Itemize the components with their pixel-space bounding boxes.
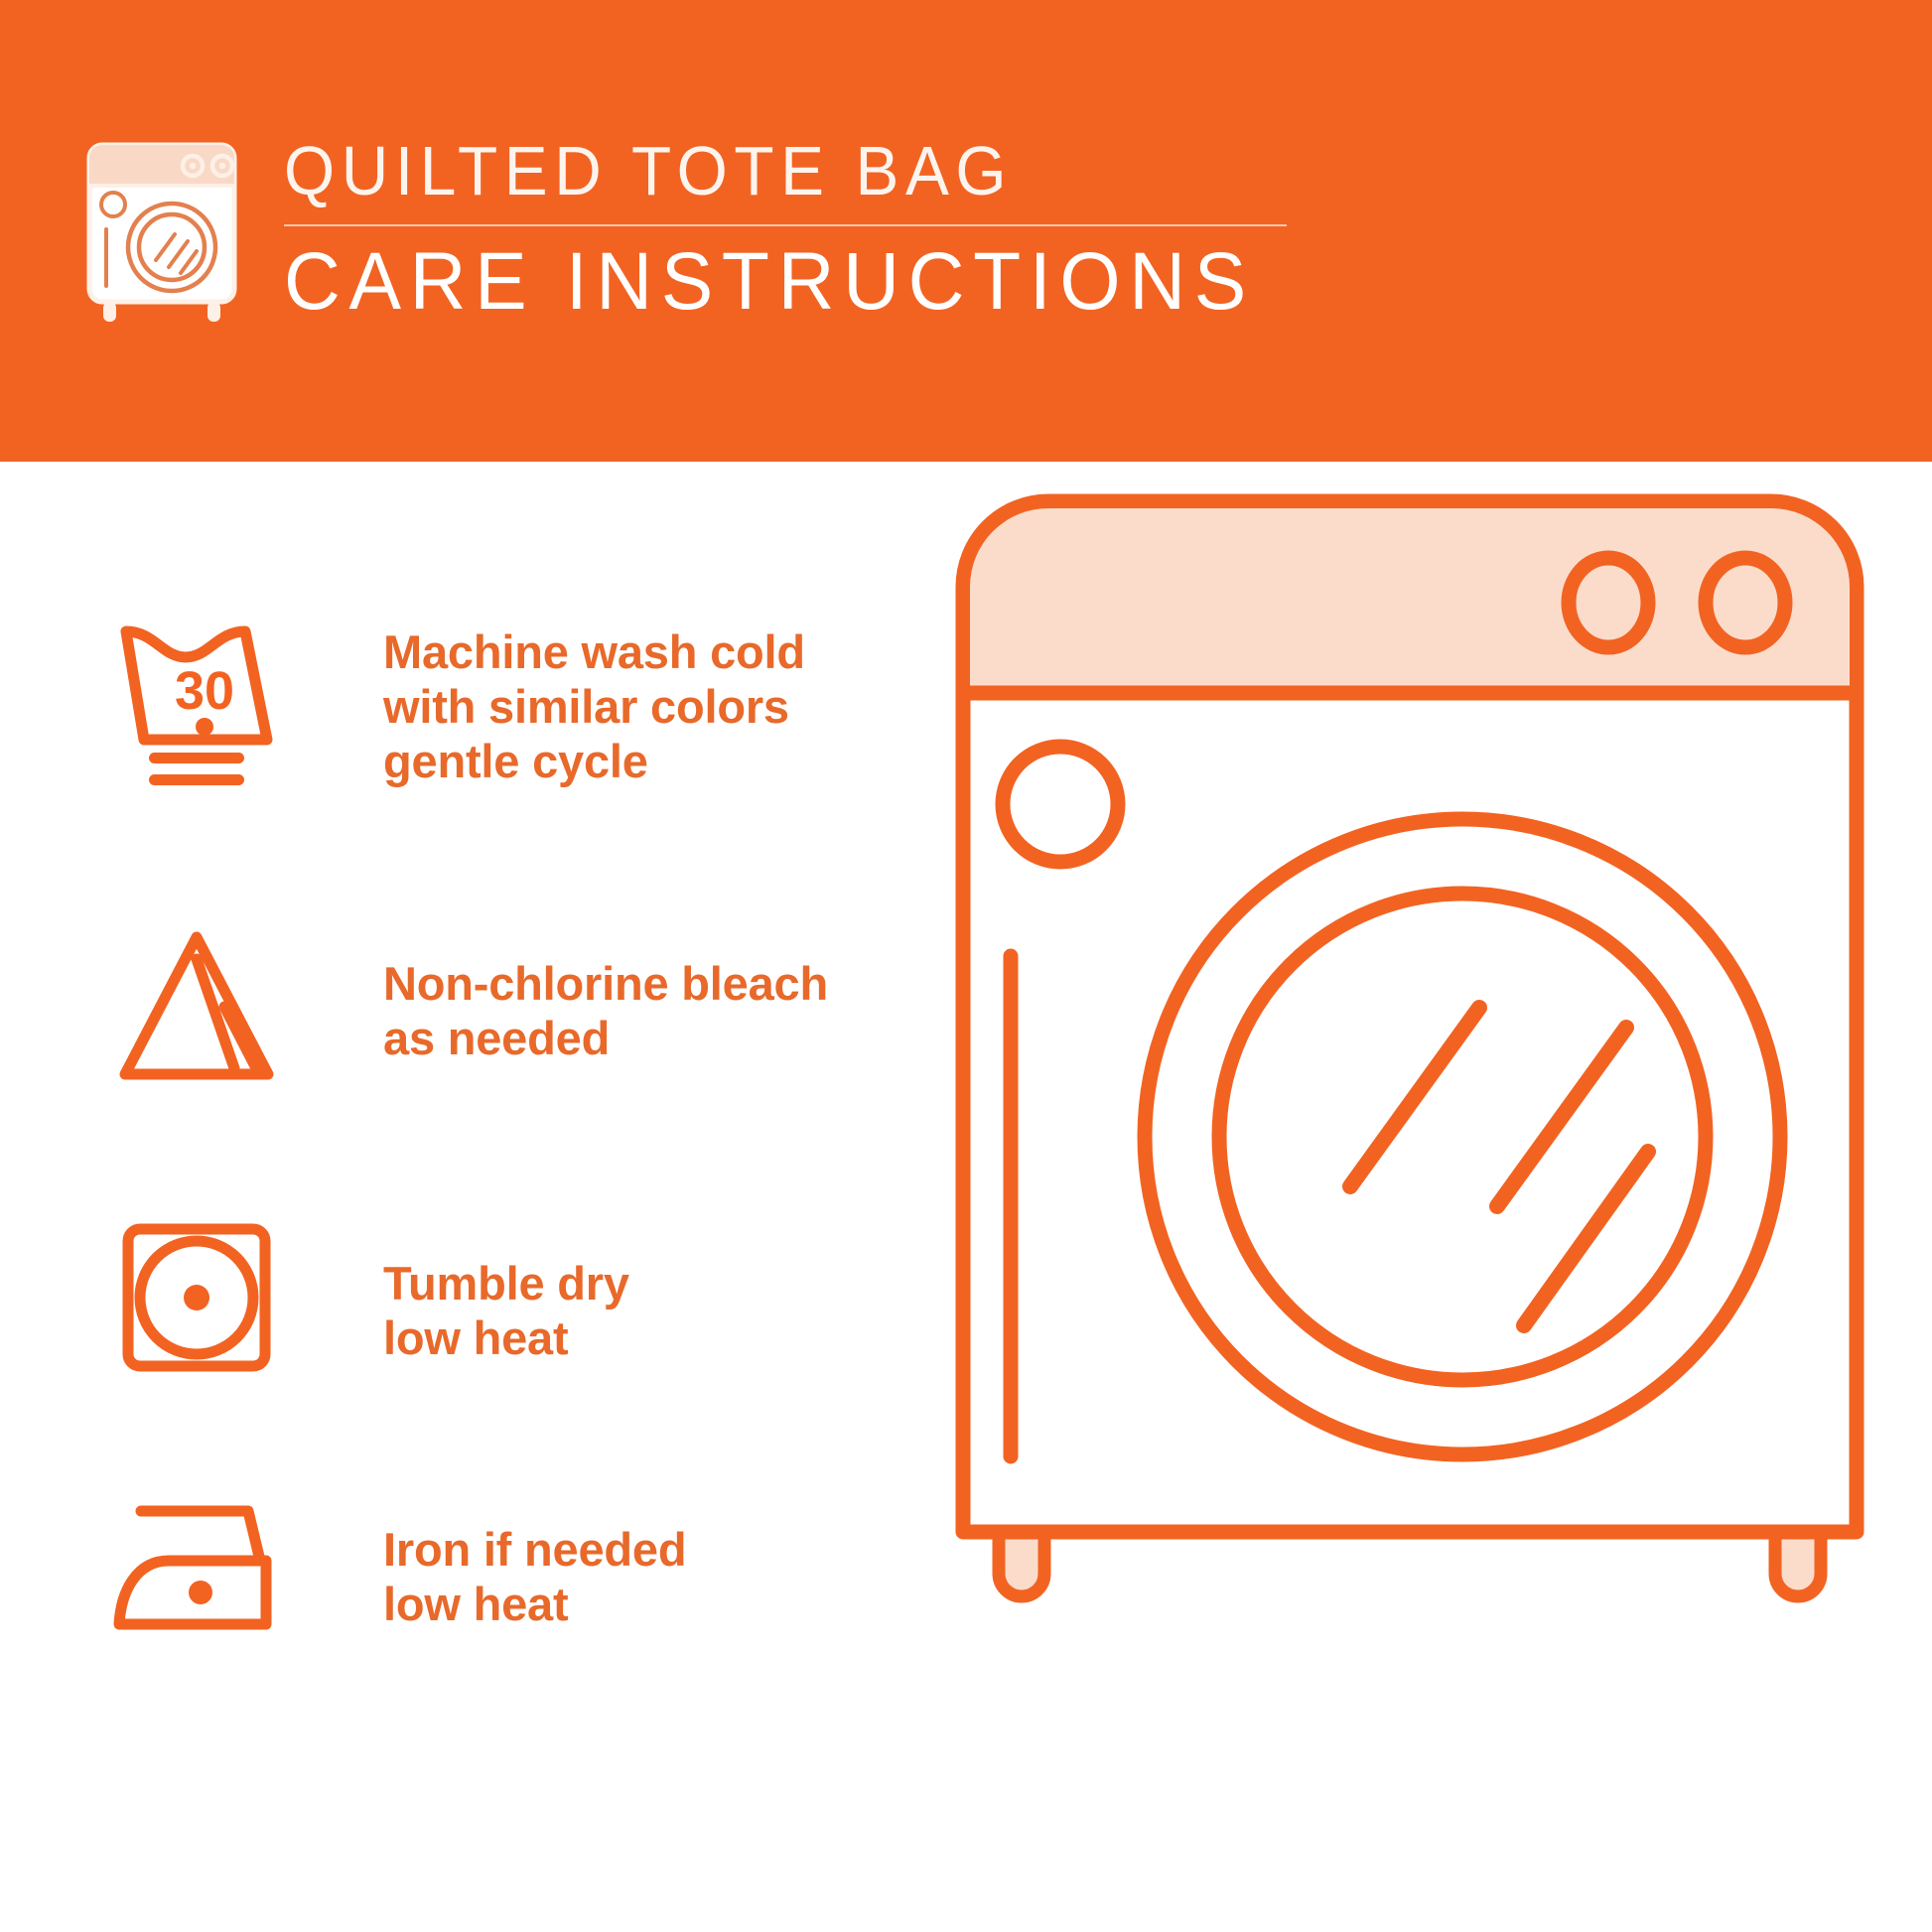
page-title: QUILTED TOTE BAG: [284, 131, 1234, 210]
care-item-label: Machine wash cold with similar colors ge…: [306, 601, 805, 788]
care-line: gentle cycle: [383, 734, 805, 788]
wash-basin-30-gentle-icon: 30: [87, 601, 306, 799]
page-content: 30 Machine wash cold with similar colors…: [0, 462, 1932, 1932]
knob-left: [1569, 558, 1648, 647]
care-line: low heat: [383, 1311, 629, 1365]
care-item-machine-wash: 30 Machine wash cold with similar colors…: [87, 601, 805, 799]
header-content: QUILTED TOTE BAG CARE INSTRUCTIONS: [77, 127, 1296, 328]
tumble-dry-low-heat-icon: [87, 1198, 306, 1397]
title-divider: [284, 224, 1287, 226]
page-subtitle: CARE INSTRUCTIONS: [284, 236, 1255, 328]
care-item-label: Iron if needed low heat: [306, 1470, 686, 1631]
page-header: QUILTED TOTE BAG CARE INSTRUCTIONS: [0, 0, 1932, 462]
iron-low-heat-icon: [87, 1470, 306, 1669]
care-item-bleach: Non-chlorine bleach as needed: [87, 910, 828, 1109]
care-line: Machine wash cold: [383, 624, 805, 679]
care-item-label: Non-chlorine bleach as needed: [306, 910, 828, 1065]
care-line: as needed: [383, 1011, 828, 1065]
non-chlorine-bleach-triangle-icon: [87, 910, 306, 1109]
svg-text:30: 30: [175, 661, 234, 721]
knob-right: [1706, 558, 1785, 647]
care-item-label: Tumble dry low heat: [306, 1198, 629, 1365]
care-line: Non-chlorine bleach: [383, 956, 828, 1011]
care-item-iron: Iron if needed low heat: [87, 1470, 686, 1669]
care-line: Iron if needed: [383, 1522, 686, 1577]
header-title-block: QUILTED TOTE BAG CARE INSTRUCTIONS: [284, 127, 1296, 328]
care-line: with similar colors: [383, 679, 805, 734]
washing-machine-icon: [77, 135, 246, 324]
care-item-tumble-dry: Tumble dry low heat: [87, 1198, 629, 1397]
front-load-washing-machine-illustration: [953, 491, 1866, 1633]
care-line: Tumble dry: [383, 1256, 629, 1311]
care-line: low heat: [383, 1577, 686, 1631]
